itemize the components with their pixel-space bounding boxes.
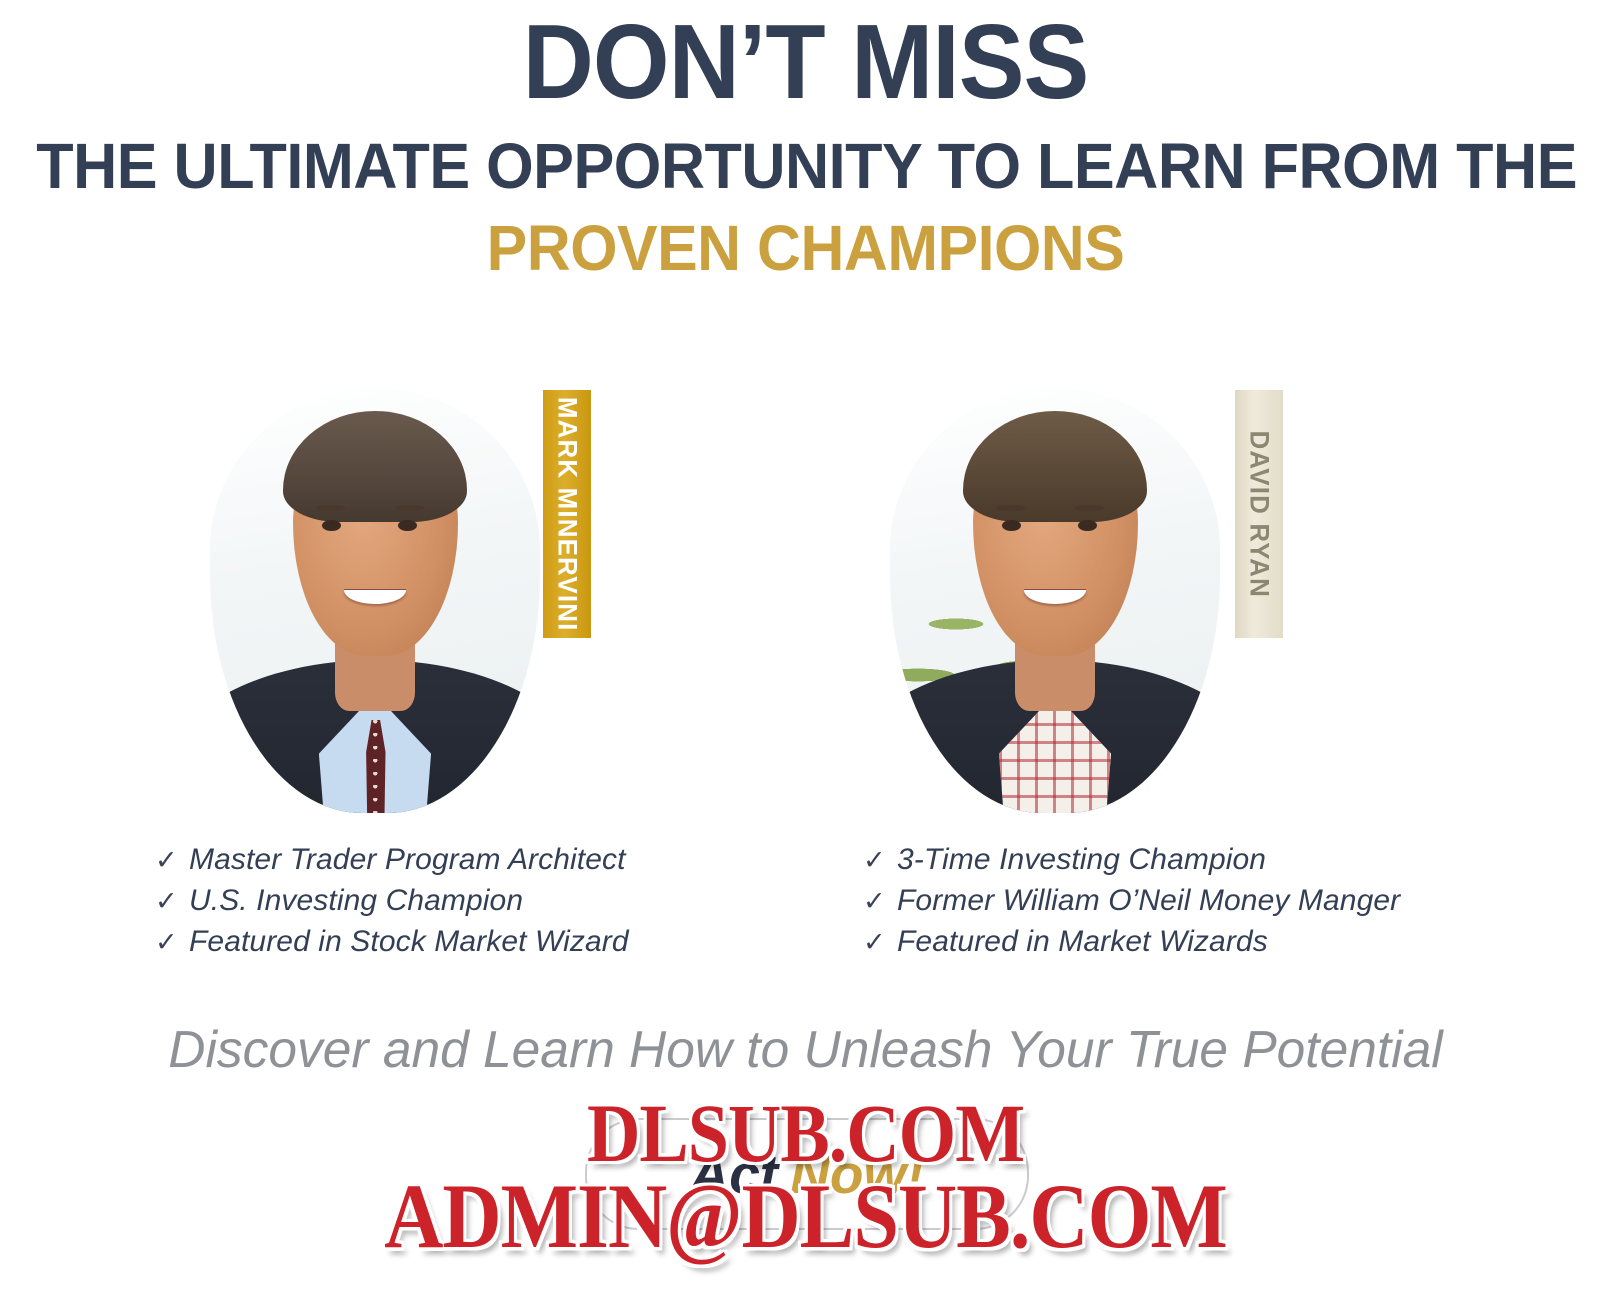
speaker-photo-david-ryan — [890, 388, 1220, 813]
check-icon: ✓ — [155, 927, 189, 957]
list-item-label: Featured in Stock Market Wizard — [189, 925, 629, 959]
credentials-section: ✓ Master Trader Program Architect ✓ U.S.… — [0, 843, 1611, 978]
list-item-label: 3-Time Investing Champion — [897, 843, 1266, 877]
speaker-card-david-ryan: DAVID RYAN — [880, 380, 1310, 820]
headline-line-3: PROVEN CHAMPIONS — [40, 212, 1570, 284]
list-item-label: U.S. Investing Champion — [189, 884, 523, 918]
name-banner-david-ryan: DAVID RYAN — [1235, 390, 1283, 638]
check-icon: ✓ — [155, 886, 189, 916]
list-item-label: Master Trader Program Architect — [189, 843, 626, 877]
list-item: ✓ Former William O’Neil Money Manger — [863, 884, 1400, 925]
check-icon: ✓ — [863, 845, 897, 875]
headline-line-1: DON’T MISS — [56, 6, 1554, 118]
credentials-list-david-ryan: ✓ 3-Time Investing Champion ✓ Former Wil… — [863, 843, 1400, 966]
credentials-list-mark-minervini: ✓ Master Trader Program Architect ✓ U.S.… — [155, 843, 629, 966]
list-item: ✓ Featured in Market Wizards — [863, 925, 1400, 966]
list-item-label: Featured in Market Wizards — [897, 925, 1268, 959]
headline-block: DON’T MISS THE ULTIMATE OPPORTUNITY TO L… — [0, 0, 1611, 284]
eye-right — [1078, 520, 1096, 531]
list-item: ✓ Master Trader Program Architect — [155, 843, 629, 884]
eyebrow-right — [1075, 505, 1105, 511]
list-item: ✓ U.S. Investing Champion — [155, 884, 629, 925]
speakers-section: MARK MINERVINI DAVID RYAN — [0, 380, 1611, 830]
eye-right — [398, 520, 416, 531]
list-item: ✓ Featured in Stock Market Wizard — [155, 925, 629, 966]
speaker-photo-mark-minervini — [210, 388, 540, 813]
eyebrow-left — [316, 505, 346, 511]
speaker-name-label: MARK MINERVINI — [552, 397, 583, 632]
speaker-name-label: DAVID RYAN — [1244, 430, 1275, 598]
eye-left — [1002, 520, 1020, 531]
watermark-email: ADMIN@DLSUB.COM — [0, 1167, 1611, 1268]
check-icon: ✓ — [155, 845, 189, 875]
speaker-card-mark-minervini: MARK MINERVINI — [200, 380, 630, 820]
tagline: Discover and Learn How to Unleash Your T… — [8, 1020, 1603, 1080]
list-item: ✓ 3-Time Investing Champion — [863, 843, 1400, 884]
list-item-label: Former William O’Neil Money Manger — [897, 884, 1400, 918]
eyebrow-right — [395, 505, 425, 511]
headline-line-2: THE ULTIMATE OPPORTUNITY TO LEARN FROM T… — [36, 130, 1575, 202]
eye-left — [322, 520, 340, 531]
name-banner-mark-minervini: MARK MINERVINI — [543, 390, 591, 638]
check-icon: ✓ — [863, 886, 897, 916]
eyebrow-left — [996, 505, 1026, 511]
check-icon: ✓ — [863, 927, 897, 957]
